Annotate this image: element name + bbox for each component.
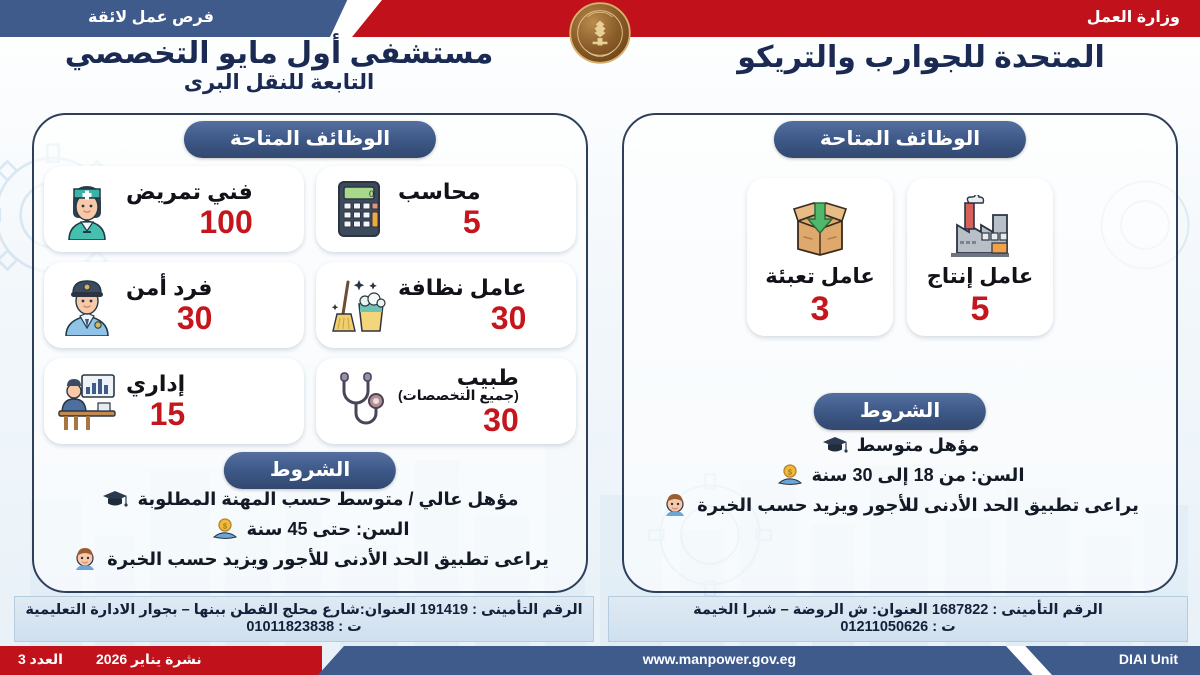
condition-text: مؤهل متوسط: [857, 435, 980, 456]
job-card[interactable]: عامل إنتاج 5: [907, 178, 1053, 336]
job-card-text: محاسب 5: [398, 180, 481, 237]
job-card-text: عامل تعبئة 3: [765, 266, 874, 326]
job-label: محاسب: [398, 180, 481, 203]
condition-row: السن: حتى 45 سنة $: [50, 516, 570, 542]
graduation-cap-icon: [101, 486, 129, 512]
cleaning-broom-bucket-icon: [328, 271, 390, 339]
conditions-list-hospital: مؤهل عالي / متوسط حسب المهنة المطلوبة ال…: [50, 486, 570, 576]
coin-in-hand-icon: $: [211, 516, 239, 542]
condition-row: السن: من 18 إلى 30 سنة $: [640, 462, 1160, 488]
condition-text: مؤهل عالي / متوسط حسب المهنة المطلوبة: [137, 489, 518, 510]
factory-icon: [943, 190, 1017, 262]
job-count: 3: [765, 292, 874, 326]
person-face-icon: [71, 546, 99, 572]
contact-line-2: ت : 01011823838: [246, 619, 361, 636]
job-label: عامل نظافة: [398, 276, 526, 299]
security-officer-icon: [56, 271, 118, 339]
egypt-ministry-of-labour-emblem: [569, 2, 631, 64]
svg-text:$: $: [788, 470, 792, 477]
conditions-header-hospital: الشروط: [224, 452, 396, 489]
panel-title-hospital: مستشفى أول مايو التخصصي التابعة للنقل ال…: [14, 38, 544, 95]
job-card[interactable]: فني تمريض 100: [44, 166, 304, 252]
jobs-grid-hospital: محاسب 5 0: [44, 166, 576, 444]
nurse-icon: [56, 175, 118, 243]
contact-info-hospital: الرقم التأمينى : 191419 العنوان:شارع محل…: [14, 596, 594, 642]
panel-title-company: المتحدة للجوارب والتريكو: [656, 42, 1186, 74]
condition-text: يراعى تطبيق الحد الأدنى للأجور ويزيد حسب…: [697, 495, 1139, 516]
job-card-text: عامل نظافة 30: [398, 276, 526, 333]
job-label: عامل إنتاج: [927, 266, 1034, 288]
svg-text:$: $: [223, 524, 227, 531]
stethoscope-icon: [328, 367, 390, 435]
panel-title-company-line1: المتحدة للجوارب والتريكو: [656, 42, 1186, 74]
job-card[interactable]: محاسب 5 0: [316, 166, 576, 252]
job-card[interactable]: عامل نظافة 30: [316, 262, 576, 348]
contact-line-2: ت : 01211050626: [840, 619, 955, 636]
person-face-icon: [661, 492, 689, 518]
job-card[interactable]: طبيب (جميع التخصصات) 30: [316, 358, 576, 444]
job-card[interactable]: فرد أمن 30: [44, 262, 304, 348]
office-desk-icon: [56, 367, 118, 435]
poster-canvas: فرص عمل لائقة وزارة العمل مستشفى أول ماي…: [0, 0, 1200, 675]
job-sublabel: (جميع التخصصات): [398, 388, 519, 403]
panel-title-hospital-line1: مستشفى أول مايو التخصصي: [14, 38, 544, 70]
jobs-header-company: الوظائف المتاحة: [774, 121, 1026, 158]
coin-in-hand-icon: $: [776, 462, 804, 488]
condition-row: يراعى تطبيق الحد الأدنى للأجور ويزيد حسب…: [50, 546, 570, 572]
website-link[interactable]: www.manpower.gov.eg: [643, 651, 796, 667]
condition-row: يراعى تطبيق الحد الأدنى للأجور ويزيد حسب…: [640, 492, 1160, 518]
calculator-icon: 0: [328, 175, 390, 243]
job-label: فني تمريض: [126, 180, 253, 203]
job-card-text: عامل إنتاج 5: [927, 266, 1034, 326]
condition-text: السن: من 18 إلى 30 سنة: [812, 465, 1025, 486]
contact-info-company: الرقم التأمينى : 1687822 العنوان: ش الرو…: [608, 596, 1188, 642]
package-box-icon: [783, 190, 857, 262]
panel-title-hospital-line2: التابعة للنقل البرى: [14, 72, 544, 95]
condition-row: مؤهل متوسط: [640, 432, 1160, 458]
issue-number-label: العدد 3: [18, 651, 63, 668]
bulletin-label: نشرة يناير 2026: [96, 651, 202, 668]
job-count: 30: [126, 302, 212, 334]
job-card-text: فرد أمن 30: [126, 276, 212, 333]
job-card[interactable]: عامل تعبئة 3: [747, 178, 893, 336]
job-count: 30: [398, 404, 519, 436]
conditions-list-company: مؤهل متوسط السن: من 18 إلى 30 سنة $: [640, 432, 1160, 522]
job-card-text: فني تمريض 100: [126, 180, 253, 237]
job-card-text: طبيب (جميع التخصصات) 30: [398, 366, 519, 437]
job-count: 30: [398, 302, 526, 334]
job-count: 100: [126, 206, 253, 238]
jobs-grid-company: عامل إنتاج 5 عامل تعب: [747, 178, 1053, 336]
top-banner-red-segment: [352, 0, 1200, 37]
conditions-header-company: الشروط: [814, 393, 986, 430]
job-label: طبيب: [398, 366, 519, 389]
job-count: 5: [398, 206, 481, 238]
job-card-text: إداري 15: [126, 372, 185, 429]
condition-text: السن: حتى 45 سنة: [247, 519, 410, 540]
decent-work-label: فرص عمل لائقة: [88, 7, 214, 27]
job-count: 5: [927, 292, 1034, 326]
job-count: 15: [126, 398, 185, 430]
contact-line-1: الرقم التأمينى : 1687822 العنوان: ش الرو…: [693, 602, 1103, 619]
job-label: إداري: [126, 372, 185, 395]
contact-line-1: الرقم التأمينى : 191419 العنوان:شارع محل…: [25, 602, 582, 619]
ministry-label: وزارة العمل: [1087, 7, 1180, 27]
unit-label: DIAI Unit: [1119, 651, 1178, 667]
condition-text: يراعى تطبيق الحد الأدنى للأجور ويزيد حسب…: [107, 549, 549, 570]
job-card[interactable]: إداري 15: [44, 358, 304, 444]
bottom-banner: العدد 3 نشرة يناير 2026 www.manpower.gov…: [0, 646, 1200, 675]
job-label: فرد أمن: [126, 276, 212, 299]
jobs-header-hospital: الوظائف المتاحة: [184, 121, 436, 158]
condition-row: مؤهل عالي / متوسط حسب المهنة المطلوبة: [50, 486, 570, 512]
job-label: عامل تعبئة: [765, 266, 874, 288]
svg-text:0: 0: [369, 189, 374, 199]
graduation-cap-icon: [821, 432, 849, 458]
